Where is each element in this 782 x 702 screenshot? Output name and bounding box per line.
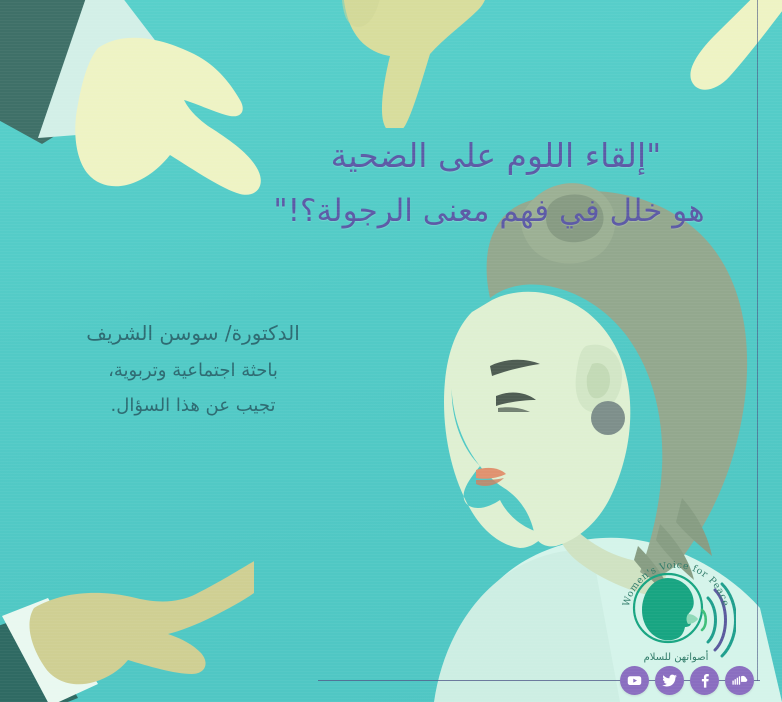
quote-line-2: هو خلل في فهم معنى الرجولة؟!"	[236, 185, 742, 238]
quote-text: "إلقاء اللوم على الضحية هو خلل في فهم مع…	[236, 128, 756, 238]
attribution-role: باحثة اجتماعية وتربوية،	[62, 353, 324, 388]
pointing-hand-top-right-icon	[690, 0, 782, 105]
twitter-icon[interactable]	[655, 666, 684, 695]
youtube-icon[interactable]	[620, 666, 649, 695]
attribution-name: الدكتورة/ سوسن الشريف	[62, 314, 324, 353]
womens-voice-for-peace-logo: Women's Voice for Peace أصواتهن للسلام	[618, 556, 736, 668]
pointing-hand-bottom-left-icon	[0, 498, 254, 702]
poster-canvas: "إلقاء اللوم على الضحية هو خلل في فهم مع…	[0, 0, 782, 702]
soundcloud-icon[interactable]	[725, 666, 754, 695]
pointing-hand-top-middle-icon	[318, 0, 518, 128]
attribution-block: الدكتورة/ سوسن الشريف باحثة اجتماعية وتر…	[62, 314, 324, 423]
social-links-bar[interactable]	[620, 666, 754, 695]
attribution-note: تجيب عن هذا السؤال.	[62, 388, 324, 423]
logo-arabic-tagline: أصواتهن للسلام	[644, 650, 709, 663]
quote-line-1: "إلقاء اللوم على الضحية	[236, 128, 756, 185]
facebook-icon[interactable]	[690, 666, 719, 695]
frame-vertical-rule	[757, 0, 758, 681]
